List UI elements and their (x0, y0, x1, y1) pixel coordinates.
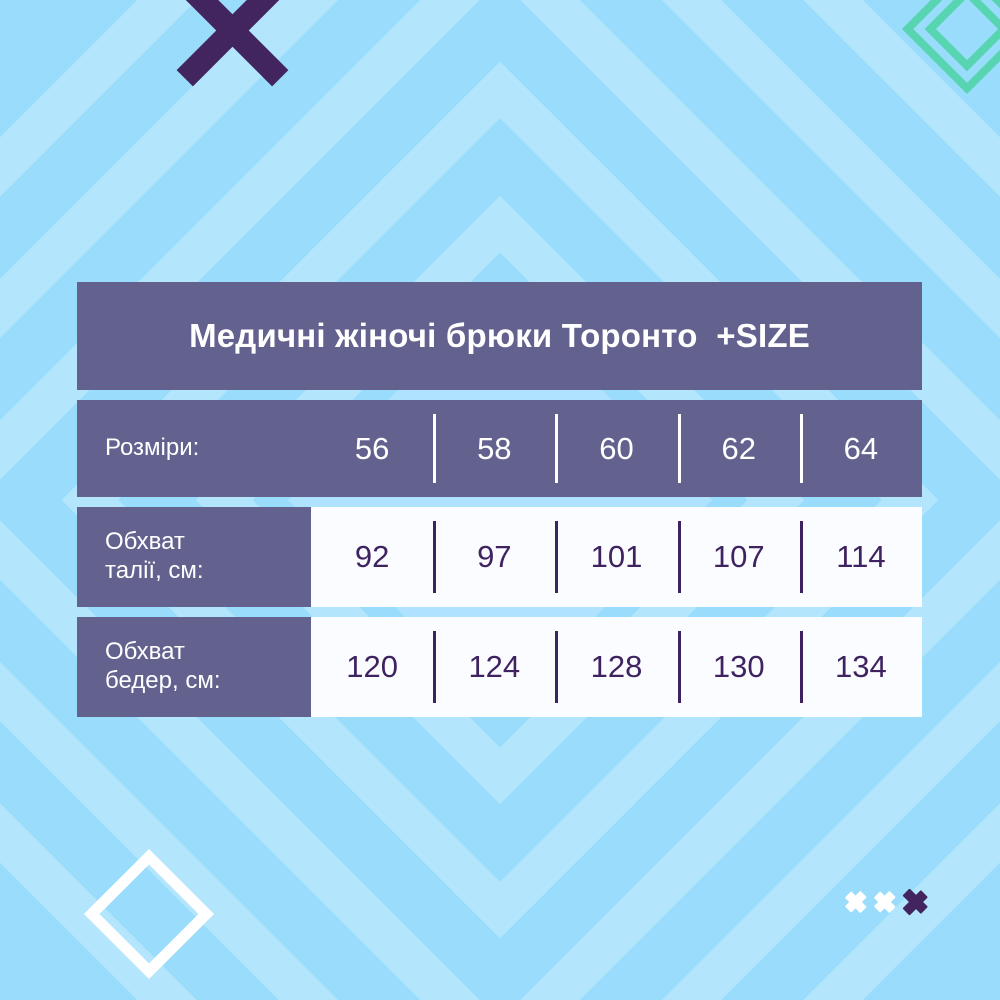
cell-size-0: 56 (311, 400, 433, 497)
cell-waist-0: 92 (311, 507, 433, 607)
cell-waist-2: 101 (555, 507, 677, 607)
cell-size-2: 60 (555, 400, 677, 497)
row-label-waist: Обхват талії, см: (77, 507, 311, 607)
row-label-hips-line1: Обхват (105, 638, 221, 667)
cell-size-3: 62 (678, 400, 800, 497)
cell-hips-2: 128 (555, 617, 677, 717)
table-row-hips: Обхват бедер, см: 120 124 128 130 134 (77, 617, 922, 717)
chevron-right-icon-1 (846, 883, 868, 921)
cell-waist-1: 97 (433, 507, 555, 607)
chevron-right-icon-3 (904, 880, 930, 924)
row-values-hips: 120 124 128 130 134 (311, 617, 922, 717)
row-label-hips: Обхват бедер, см: (77, 617, 311, 717)
page-title: Медичні жіночі брюки Торонто +SIZE (171, 317, 828, 355)
cell-waist-4: 114 (800, 507, 922, 607)
row-values-waist: 92 97 101 107 114 (311, 507, 922, 607)
cell-hips-4: 134 (800, 617, 922, 717)
cell-hips-1: 124 (433, 617, 555, 717)
cell-hips-3: 130 (678, 617, 800, 717)
size-chart-table: Медичні жіночі брюки Торонто +SIZE Розмі… (77, 282, 922, 717)
row-label-waist-line2: талії, см: (105, 557, 204, 586)
table-row-sizes: Розміри: 56 58 60 62 64 (77, 400, 922, 497)
size-chart-canvas: Медичні жіночі брюки Торонто +SIZE Розмі… (0, 0, 1000, 1000)
chevron-right-icon-2 (875, 883, 897, 921)
row-values-sizes: 56 58 60 62 64 (311, 400, 922, 497)
row-label-hips-line2: бедер, см: (105, 667, 221, 696)
row-label-sizes: Розміри: (77, 400, 311, 497)
row-label-waist-line1: Обхват (105, 528, 204, 557)
chart-title-bar: Медичні жіночі брюки Торонто +SIZE (77, 282, 922, 390)
cell-waist-3: 107 (678, 507, 800, 607)
diamond-outline-icon (84, 849, 214, 979)
concentric-squares-icon (912, 0, 1000, 84)
x-mark-icon (172, 0, 292, 90)
cell-hips-0: 120 (311, 617, 433, 717)
table-row-waist: Обхват талії, см: 92 97 101 107 114 (77, 507, 922, 607)
cell-size-1: 58 (433, 400, 555, 497)
cell-size-4: 64 (800, 400, 922, 497)
chevron-right-triple-icon (846, 872, 930, 932)
